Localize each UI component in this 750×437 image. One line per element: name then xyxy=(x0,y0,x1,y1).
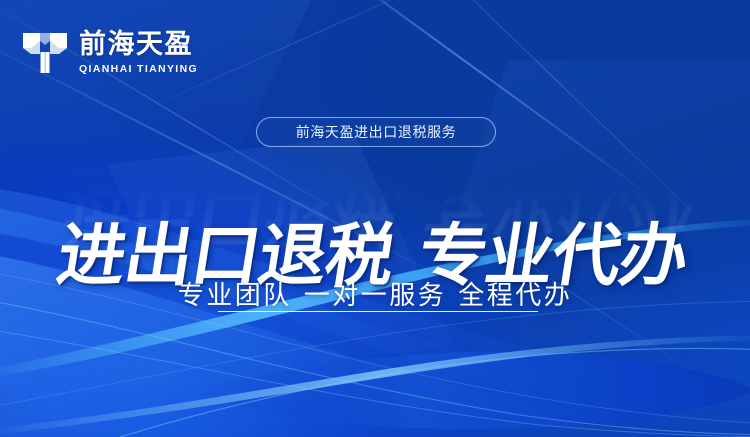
logo-name-cn: 前海天盈 xyxy=(79,30,198,59)
logo-name-en: QIANHAI TIANYING xyxy=(79,64,198,75)
service-badge-label: 前海天盈进出口退税服务 xyxy=(296,122,457,142)
service-badge: 前海天盈进出口退税服务 xyxy=(256,117,496,147)
brand-logo[interactable]: 前海天盈 QIANHAI TIANYING xyxy=(22,28,198,76)
logo-text: 前海天盈 QIANHAI TIANYING xyxy=(79,30,198,74)
logo-y-mark-icon xyxy=(22,28,68,76)
headline-block: 进出口退税专业代办 进出口退税专业代办 xyxy=(0,176,750,248)
subtitle-item-1: 专业团队 xyxy=(178,280,292,310)
subtitle-item-3: 全程代办 xyxy=(458,280,572,310)
subtitle-divider xyxy=(218,311,538,312)
subtitle-item-2: 一对一服务 xyxy=(304,280,447,310)
subtitle: 专业团队一对一服务全程代办 xyxy=(0,275,750,312)
promo-banner: 前海天盈 QIANHAI TIANYING 前海天盈进出口退税服务 进出口退税专… xyxy=(0,0,750,437)
